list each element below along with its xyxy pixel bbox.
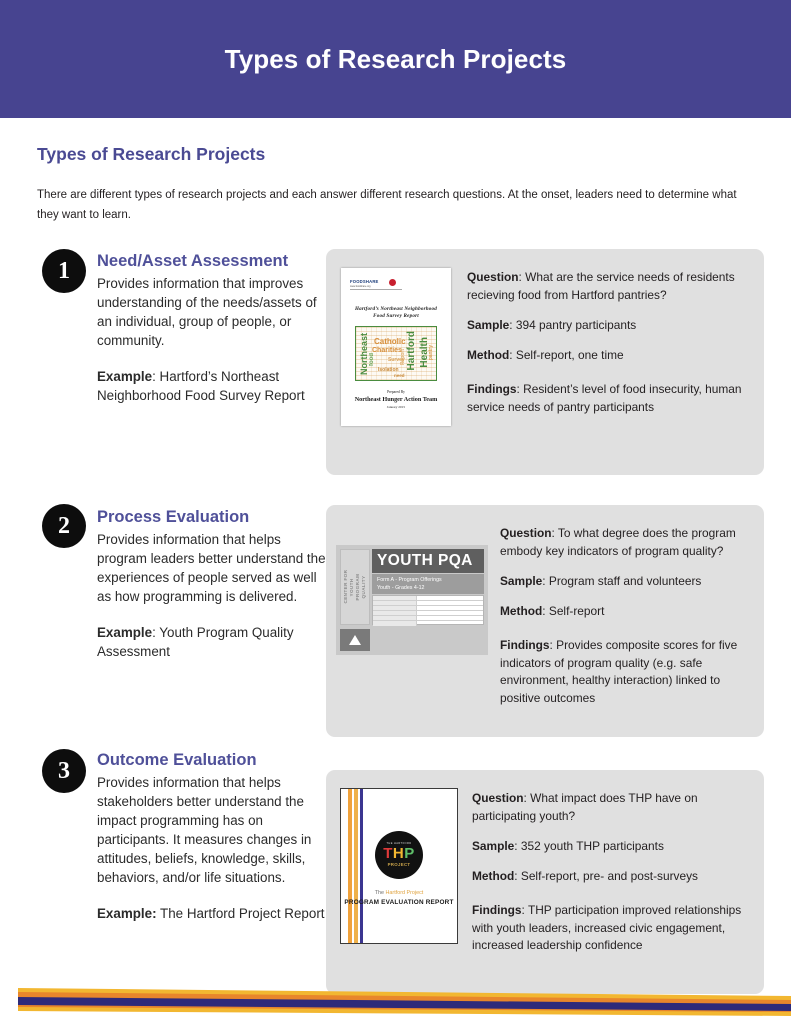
block-2-detail-panel: CENTER FOR YOUTH PROGRAM QUALITY YOUTH P…: [326, 505, 764, 737]
form-grid-value-cell: [417, 601, 483, 605]
fact-sample: Sample: 352 youth THP participants: [472, 838, 748, 856]
block-2-text-column: Process Evaluation Provides information …: [97, 507, 331, 661]
fact-question-label: Question: [467, 270, 519, 284]
block-1-facts: Question: What are the service needs of …: [467, 263, 746, 416]
fact-method-text: : Self-report, pre- and post-surveys: [514, 869, 698, 883]
step-number-badge: 2: [42, 504, 86, 548]
fact-sample: Sample: Program staff and volunteers: [500, 573, 748, 591]
form-grid-value-cell: [417, 611, 483, 615]
block-1-detail-panel: FOODSHARE www.foodshare.org Hartford’s N…: [326, 249, 764, 475]
youth-pqa-spine: CENTER FOR YOUTH PROGRAM QUALITY: [340, 549, 370, 625]
block-1-heading: Need/Asset Assessment: [97, 251, 325, 272]
fact-method-label: Method: [467, 348, 509, 362]
research-type-block-2: 2 Process Evaluation Provides informatio…: [0, 503, 791, 745]
fact-sample-label: Sample: [467, 318, 509, 332]
fact-question: Question: To what degree does the progra…: [500, 525, 748, 561]
report-cover-title: Hartford’s Northeast Neighborhood Food S…: [351, 306, 441, 320]
youth-pqa-spine-text: CENTER FOR YOUTH PROGRAM QUALITY: [343, 569, 367, 606]
fact-question: Question: What are the service needs of …: [467, 269, 746, 305]
page-title: Types of Research Projects: [37, 144, 791, 165]
cover-stripe: [360, 789, 363, 943]
step-number-badge: 3: [42, 749, 86, 793]
block-3-example: Example: The Hartford Project Report: [97, 904, 335, 923]
youth-pqa-title: YOUTH PQA: [372, 552, 473, 570]
footer-ribbon: [0, 978, 791, 1024]
thp-cover-caption-gray: The: [375, 890, 384, 896]
foodshare-logo-sub: www.foodshare.org: [350, 285, 402, 288]
thp-cover-caption-orange: Hartford Project: [386, 890, 424, 896]
fact-sample-label: Sample: [500, 574, 542, 588]
block-3-text-column: Outcome Evaluation Provides information …: [97, 750, 335, 923]
fact-question-label: Question: [472, 791, 524, 805]
fact-findings-label: Findings: [500, 638, 550, 652]
block-1-description: Provides information that improves under…: [97, 274, 325, 350]
fact-method-label: Method: [500, 604, 542, 618]
step-number-badge: 1: [42, 249, 86, 293]
block-2-facts: Question: To what degree does the progra…: [500, 519, 748, 708]
wordcloud-term: Charities: [372, 347, 402, 354]
block-3-example-label: Example:: [97, 906, 157, 921]
thp-cover-caption: The Hartford Project: [341, 889, 457, 897]
block-3-detail-panel: THE HARTFORD THP PROJECT The Hartford Pr…: [326, 770, 764, 994]
block-2-example-label: Example: [97, 625, 152, 640]
block-1-text-column: Need/Asset Assessment Provides informati…: [97, 251, 325, 405]
block-2-heading: Process Evaluation: [97, 507, 331, 528]
research-type-block-1: 1 Need/Asset Assessment Provides informa…: [0, 249, 791, 499]
intro-paragraph: There are different types of research pr…: [37, 185, 737, 225]
block-3-thumbnail: THE HARTFORD THP PROJECT The Hartford Pr…: [340, 788, 458, 944]
report-cover-prepared-date: January 2015: [349, 404, 443, 410]
thp-cover-subtitle: PROGRAM EVALUATION REPORT: [341, 899, 457, 906]
block-3-example-text: The Hartford Project Report: [157, 906, 325, 921]
form-grid-label-cell: [373, 601, 417, 605]
report-cover-title-line-1: Hartford’s Northeast Neighborhood: [351, 306, 441, 313]
youth-pqa-subtitle-line-2: Youth - Grades 4-12: [377, 585, 484, 593]
thp-logo-bottom-text: PROJECT: [388, 861, 411, 868]
fact-findings: Findings: Resident’s level of food insec…: [467, 381, 746, 417]
page-content: Types of Research Projects There are dif…: [0, 118, 791, 999]
fact-method-label: Method: [472, 869, 514, 883]
fact-sample-text: : 394 pantry participants: [509, 318, 636, 332]
fact-method: Method: Self-report, one time: [467, 347, 746, 365]
form-grid-value-cell: [417, 606, 483, 610]
fact-sample-text: : Program staff and volunteers: [542, 574, 701, 588]
form-grid-label-cell: [373, 621, 417, 626]
research-type-block-3: 3 Outcome Evaluation Provides informatio…: [0, 749, 791, 999]
fact-findings: Findings: THP participation improved rel…: [472, 902, 748, 956]
thp-logo: THE HARTFORD THP PROJECT: [375, 831, 423, 879]
block-2-example: Example: Youth Program Quality Assessmen…: [97, 623, 331, 661]
form-grid-label-cell: [373, 616, 417, 620]
youth-pqa-footer-mark: [340, 629, 370, 651]
block-1-example: Example: Hartford’s Northeast Neighborho…: [97, 367, 325, 405]
form-grid-label-cell: [373, 596, 417, 600]
form-grid-row: [373, 621, 483, 626]
youth-pqa-form-grid: [372, 595, 484, 625]
block-3-heading: Outcome Evaluation: [97, 750, 335, 771]
thp-report-cover-image: THE HARTFORD THP PROJECT The Hartford Pr…: [340, 788, 458, 944]
fact-method: Method: Self-report, pre- and post-surve…: [472, 868, 748, 886]
wordcloud-term: food: [369, 353, 375, 366]
report-cover-prepared-org: Northeast Hunger Action Team: [349, 395, 443, 404]
block-1-example-label: Example: [97, 369, 152, 384]
fact-findings-label: Findings: [467, 382, 517, 396]
wordcloud-term: Hartford: [406, 331, 417, 370]
block-3-facts: Question: What impact does THP have on p…: [472, 784, 748, 955]
fact-method-text: : Self-report, one time: [509, 348, 623, 362]
youth-pqa-subtitle-bar: Form A - Program Offerings Youth - Grade…: [372, 574, 484, 594]
youth-pqa-form-image: CENTER FOR YOUTH PROGRAM QUALITY YOUTH P…: [336, 545, 488, 655]
wordcloud-term: need: [394, 373, 405, 378]
wordcloud-term: Report: [400, 349, 406, 365]
form-grid-label-cell: [373, 611, 417, 615]
foodshare-logo: FOODSHARE www.foodshare.org: [350, 279, 402, 295]
wordcloud-term: Catholic: [374, 337, 406, 346]
report-cover-title-line-2: Food Survey Report: [351, 313, 441, 320]
thp-logo-letters: THP: [383, 846, 415, 861]
block-2-thumbnail: CENTER FOR YOUTH PROGRAM QUALITY YOUTH P…: [336, 545, 488, 655]
block-1-thumbnail: FOODSHARE www.foodshare.org Hartford’s N…: [341, 268, 451, 426]
block-3-description: Provides information that helps stakehol…: [97, 773, 335, 887]
report-cover-prepared-block: Prepared By Northeast Hunger Action Team…: [349, 389, 443, 410]
banner-title: Types of Research Projects: [225, 44, 567, 75]
form-grid-value-cell: [417, 596, 483, 600]
fact-sample-label: Sample: [472, 839, 514, 853]
fact-findings: Findings: Provides composite scores for …: [500, 637, 748, 708]
youth-pqa-header-bar: YOUTH PQA: [372, 549, 484, 573]
wordcloud-term: Northeast: [359, 333, 369, 375]
wordcloud-term: pantry: [428, 345, 434, 360]
triangle-icon: [349, 635, 361, 645]
fact-findings-label: Findings: [472, 903, 522, 917]
fact-sample: Sample: 394 pantry participants: [467, 317, 746, 335]
foodshare-logo-rule: [350, 289, 402, 292]
form-grid-value-cell: [417, 616, 483, 620]
food-survey-report-cover-image: FOODSHARE www.foodshare.org Hartford’s N…: [341, 268, 451, 426]
fact-sample-text: : 352 youth THP participants: [514, 839, 664, 853]
block-2-description: Provides information that helps program …: [97, 530, 331, 606]
form-grid-label-cell: [373, 606, 417, 610]
youth-pqa-subtitle-line-1: Form A - Program Offerings: [377, 577, 484, 585]
form-grid-value-cell: [417, 621, 483, 626]
wordcloud-graphic: Northeast Hartford Health Catholic Chari…: [355, 326, 437, 381]
fact-method-text: : Self-report: [542, 604, 604, 618]
fact-question: Question: What impact does THP have on p…: [472, 790, 748, 826]
fact-question-label: Question: [500, 526, 552, 540]
fact-method: Method: Self-report: [500, 603, 748, 621]
page-header-banner: Types of Research Projects: [0, 0, 791, 118]
